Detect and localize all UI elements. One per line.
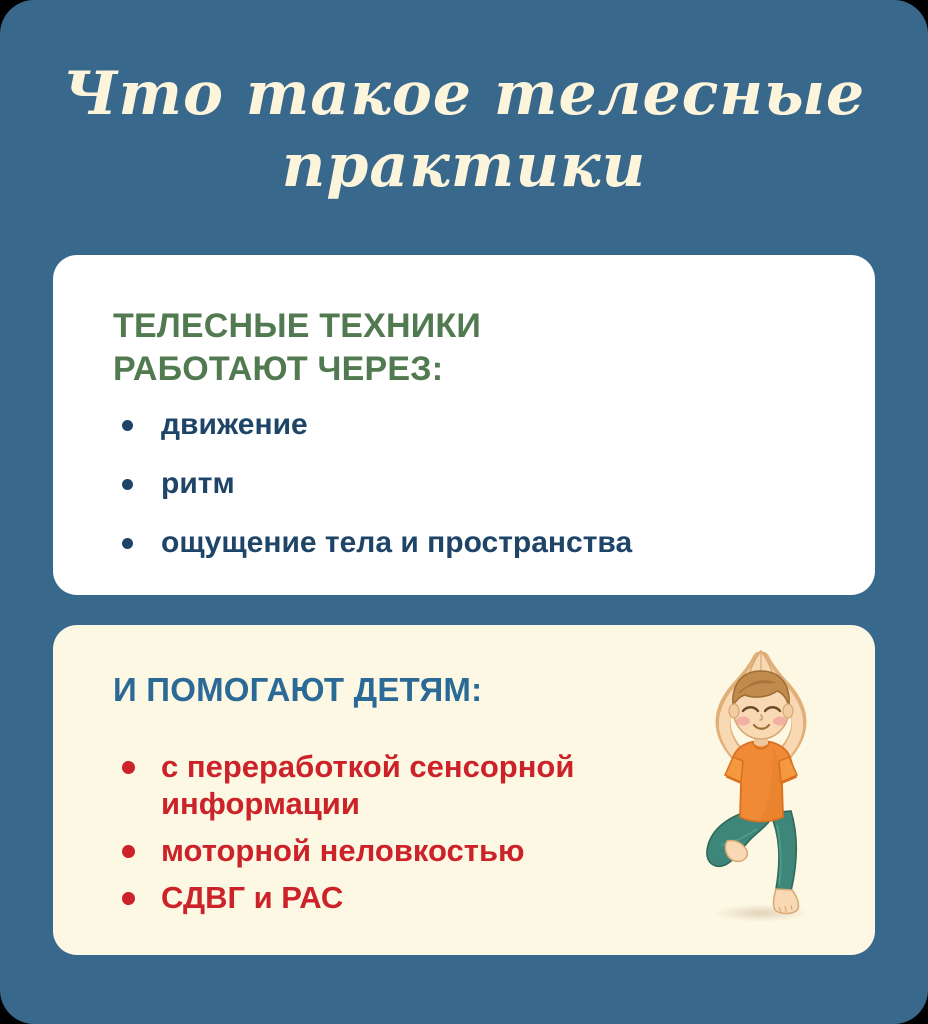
list-item-label: движение xyxy=(161,408,308,441)
list-item: движение xyxy=(113,408,813,442)
list-item: ощущение тела и пространства xyxy=(113,526,813,560)
bullet-dot-icon xyxy=(122,761,135,774)
list-item: СДВГ и РАС xyxy=(113,879,733,916)
helps-bullet-list: с переработкой сенсорной информации мото… xyxy=(113,748,733,916)
card-heading-techniques: ТЕЛЕСНЫЕ ТЕХНИКИ РАБОТАЮТ ЧЕРЕЗ: xyxy=(113,305,481,391)
card-heading-helps-children: И ПОМОГАЮТ ДЕТЯМ: xyxy=(113,670,482,710)
bullet-dot-icon xyxy=(122,845,135,858)
bullet-dot-icon xyxy=(122,538,133,549)
bullet-dot-icon xyxy=(122,892,135,905)
right-ear xyxy=(783,704,793,718)
list-item: моторной неловкостью xyxy=(113,832,733,869)
techniques-bullet-list: движение ритм ощущение тела и пространст… xyxy=(113,408,813,560)
poster-title-line-2: практики xyxy=(40,130,888,202)
right-blush xyxy=(773,717,787,726)
poster-title: Что такое телесные практики xyxy=(0,58,928,202)
list-item-label: ритм xyxy=(161,467,235,500)
left-ear xyxy=(729,704,739,718)
tshirt xyxy=(727,741,796,822)
list-item-label: моторной неловкостью xyxy=(161,833,525,868)
list-item-label: с переработкой сенсорной информации xyxy=(161,749,574,821)
standing-leg xyxy=(770,811,796,891)
bullet-dot-icon xyxy=(122,479,133,490)
card-body-helps-children: И ПОМОГАЮТ ДЕТЯМ: с переработкой сенсорн… xyxy=(53,625,875,955)
list-item-label: ощущение тела и пространства xyxy=(161,526,632,559)
poster-title-line-1: Что такое телесные xyxy=(40,58,888,130)
card-body-techniques: ТЕЛЕСНЫЕ ТЕХНИКИ РАБОТАЮТ ЧЕРЕЗ: движени… xyxy=(53,255,875,595)
list-item: ритм xyxy=(113,467,813,501)
left-blush xyxy=(736,717,750,726)
list-item: с переработкой сенсорной информации xyxy=(113,748,733,822)
list-item-label: СДВГ и РАС xyxy=(161,880,343,915)
child-tree-pose-illustration xyxy=(677,645,845,935)
bullet-dot-icon xyxy=(122,420,133,431)
poster-canvas: Что такое телесные практики ТЕЛЕСНЫЕ ТЕХ… xyxy=(0,0,928,1024)
